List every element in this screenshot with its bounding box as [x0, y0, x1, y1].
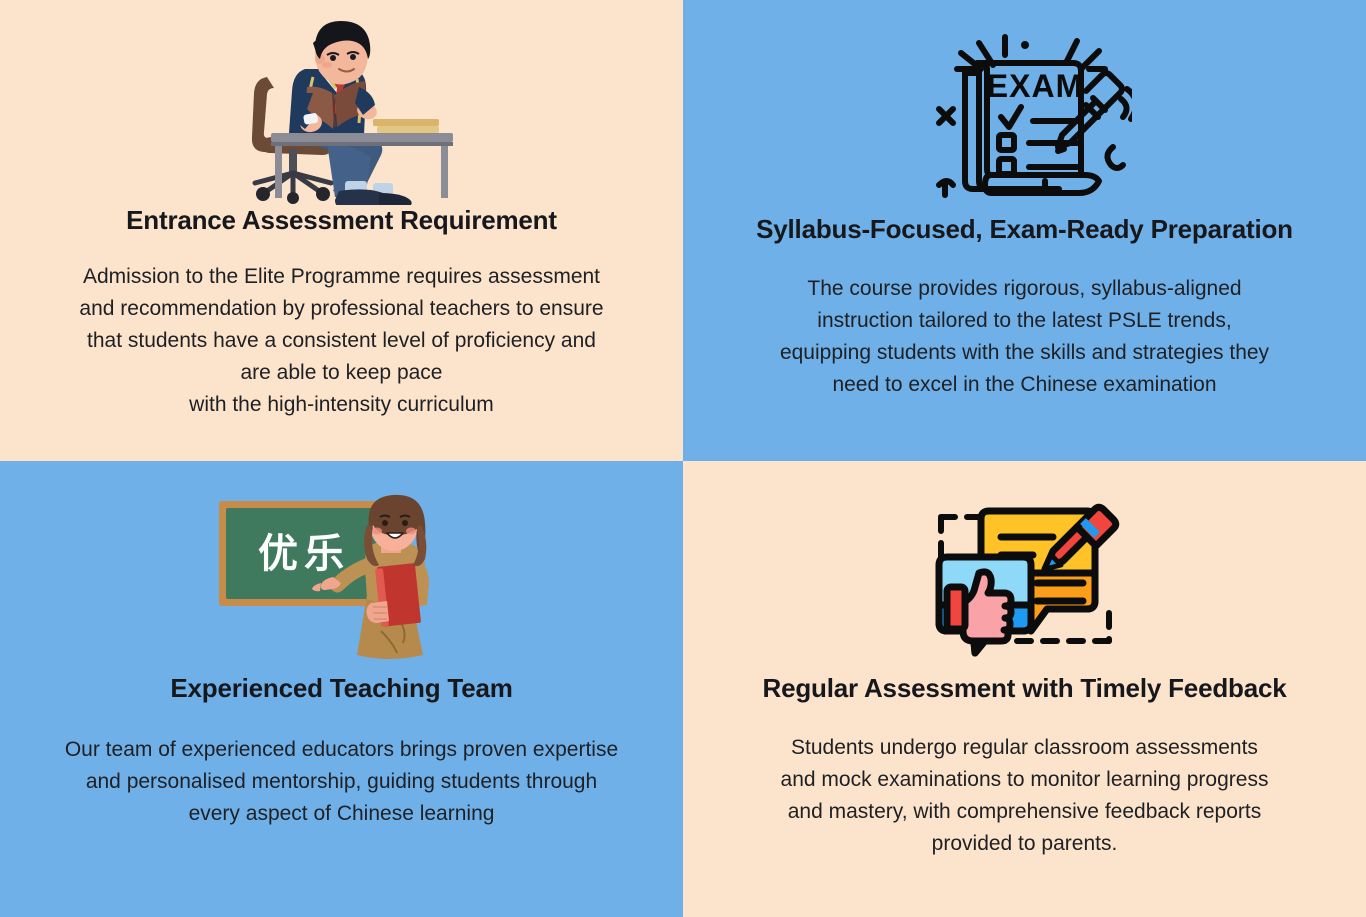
feature-grid: Entrance Assessment Requirement Admissio…: [0, 0, 1366, 917]
card-syllabus-focused-exam-ready-preparation: EXAM Syllabus-Focused, Exam-Ready Prepar…: [683, 0, 1366, 461]
card-title: Regular Assessment with Timely Feedback: [763, 673, 1287, 704]
student-reading-at-desk-illustration: [227, 0, 457, 205]
blackboard-text: 优乐: [258, 532, 350, 576]
teacher-at-blackboard-illustration: 优乐: [209, 461, 474, 661]
exam-label: EXAM: [987, 68, 1083, 104]
exam-paper-with-pencil-icon: EXAM: [917, 0, 1132, 210]
card-title: Experienced Teaching Team: [170, 673, 512, 704]
card-body: Our team of experienced educators brings…: [65, 734, 618, 830]
feedback-speech-bubbles-with-pencil-icon: [925, 461, 1125, 661]
card-experienced-teaching-team: 优乐: [0, 461, 683, 917]
card-title: Syllabus-Focused, Exam-Ready Preparation: [756, 214, 1293, 245]
card-body: The course provides rigorous, syllabus-a…: [780, 273, 1269, 401]
card-regular-assessment-with-timely-feedback: Regular Assessment with Timely Feedback …: [683, 461, 1366, 917]
card-title: Entrance Assessment Requirement: [126, 205, 557, 236]
card-entrance-assessment-requirement: Entrance Assessment Requirement Admissio…: [0, 0, 683, 461]
card-body: Students undergo regular classroom asses…: [781, 732, 1269, 860]
card-body: Admission to the Elite Programme require…: [79, 261, 603, 421]
